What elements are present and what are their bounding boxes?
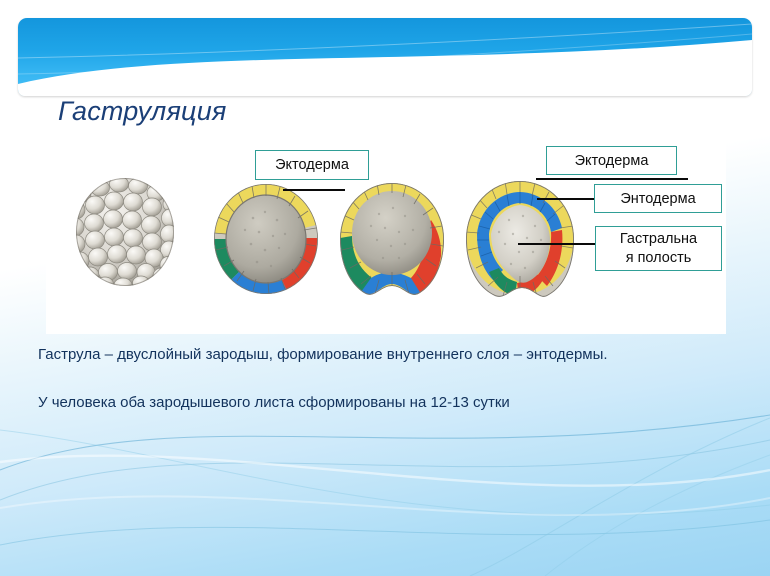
leader-line-gastral-cavity (518, 243, 596, 245)
page-title: Гаструляция (58, 96, 227, 127)
callout-ectoderm-left-label: Эктодерма (275, 157, 349, 173)
header-banner (18, 18, 752, 96)
callout-gastral-cavity-label-line2: я полость (626, 249, 692, 268)
figure-stage-blastula (60, 168, 190, 298)
body-paragraph-2: У человека оба зародышевого листа сформи… (38, 392, 728, 413)
leader-line-endoderm (537, 198, 595, 200)
callout-gastral-cavity[interactable]: Гастральна я полость (595, 226, 722, 271)
callout-ectoderm-right-label: Эктодерма (575, 153, 649, 169)
leader-line-ectoderm-right (536, 178, 688, 180)
slide: Гаструляция (0, 0, 770, 576)
body-paragraph-1: Гаструла – двуслойный зародыш, формирова… (38, 344, 721, 365)
figure-stage-gastrula (459, 176, 581, 302)
callout-gastral-cavity-label-line1: Гастральна (620, 230, 697, 249)
leader-line-ectoderm-left (283, 189, 345, 191)
callout-ectoderm-left[interactable]: Эктодерма (255, 150, 369, 180)
figure-stage-early-gastrulation (207, 178, 325, 300)
callout-endoderm[interactable]: Энтодерма (594, 184, 722, 213)
figure-stage-invagination (333, 178, 451, 300)
callout-ectoderm-right[interactable]: Эктодерма (546, 146, 677, 175)
callout-endoderm-label: Энтодерма (620, 191, 695, 207)
